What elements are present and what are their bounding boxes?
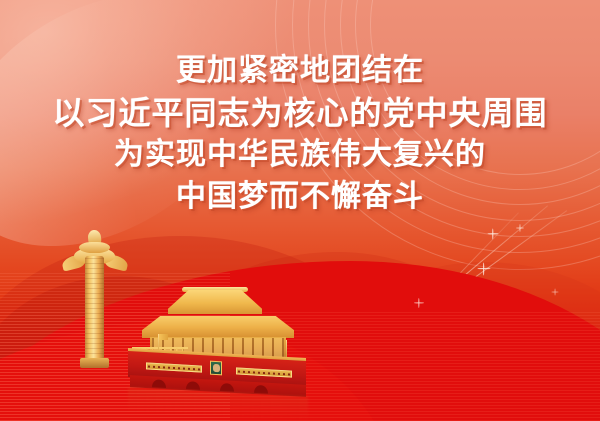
sparkle-star-2 [516, 224, 524, 232]
huabiao-column [66, 230, 124, 366]
headline-line-4: 中国梦而不懈奋斗 [0, 176, 600, 218]
headline-line-2: 以习近平同志为核心的党中央周围 [0, 92, 600, 134]
tiananmen-monument-illustration [58, 228, 298, 388]
gate-roof-upper [168, 290, 262, 314]
tiananmen-gate [120, 290, 298, 386]
flag [159, 334, 168, 340]
huabiao-shaft [85, 256, 104, 364]
headline-line-3: 为实现中华民族伟大复兴的 [0, 134, 600, 176]
poster-headline: 更加紧密地团结在 以习近平同志为核心的党中央周围 为实现中华民族伟大复兴的 中国… [0, 50, 600, 218]
poster-canvas: 更加紧密地团结在 以习近平同志为核心的党中央周围 为实现中华民族伟大复兴的 中国… [0, 0, 600, 421]
sparkle-star-5 [551, 288, 558, 295]
sparkle-star-3 [477, 262, 490, 275]
huabiao-base [80, 358, 109, 368]
sparkle-star-1 [487, 228, 498, 239]
chairman-portrait [210, 361, 222, 376]
headline-line-1: 更加紧密地团结在 [0, 50, 600, 92]
flagpole-secondary [286, 340, 287, 358]
huabiao-disc-upper [79, 242, 110, 253]
